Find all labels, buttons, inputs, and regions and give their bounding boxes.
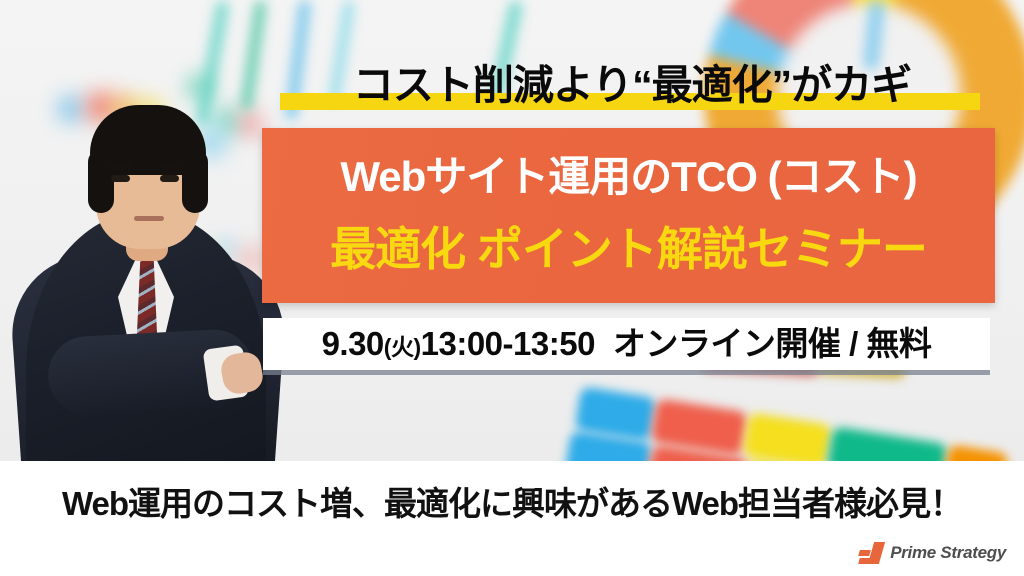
event-time: 13:00-13:50 xyxy=(421,325,595,362)
strip-row1-green xyxy=(827,426,948,461)
prime-strategy-logo: Prime Strategy xyxy=(859,542,1006,564)
bottom-band: Web運用のコスト増、最適化に興味があるWeb担当者様必見！ Prime Str… xyxy=(0,461,1024,576)
event-format: オンライン開催 / 無料 xyxy=(613,325,932,362)
speaker-eye-left xyxy=(111,175,130,182)
headline: コスト削減より“最適化”がカギ xyxy=(262,55,1002,115)
speaker-photo xyxy=(10,0,280,461)
title-line-1: Webサイト運用のTCO (コスト) xyxy=(262,143,995,204)
speaker-mouth xyxy=(134,216,164,221)
seminar-banner: コスト削減より“最適化”がカギ Webサイト運用のTCO (コスト) 最適化 ポ… xyxy=(0,0,1024,576)
date-time-text: 9.30(火)13:00-13:50オンライン開催 / 無料 xyxy=(263,318,990,370)
headline-text: コスト削減より“最適化”がカギ xyxy=(262,55,1002,115)
event-date: 9.30 xyxy=(322,325,384,362)
strip-row1-orange xyxy=(943,444,1009,461)
prime-strategy-logo-icon xyxy=(859,542,883,564)
event-weekday: (火) xyxy=(384,334,421,360)
title-box: Webサイト運用のTCO (コスト) 最適化 ポイント解説セミナー xyxy=(262,128,995,303)
bottom-copy-text: Web運用のコスト増、最適化に興味があるWeb担当者様必見！ xyxy=(0,477,1024,525)
date-time-bar: 9.30(火)13:00-13:50オンライン開催 / 無料 xyxy=(263,318,990,370)
title-line-2: 最適化 ポイント解説セミナー xyxy=(262,213,995,279)
strip-row1-yellow xyxy=(743,412,833,461)
speaker-eye-right xyxy=(160,175,179,182)
prime-strategy-logo-text: Prime Strategy xyxy=(890,543,1006,563)
